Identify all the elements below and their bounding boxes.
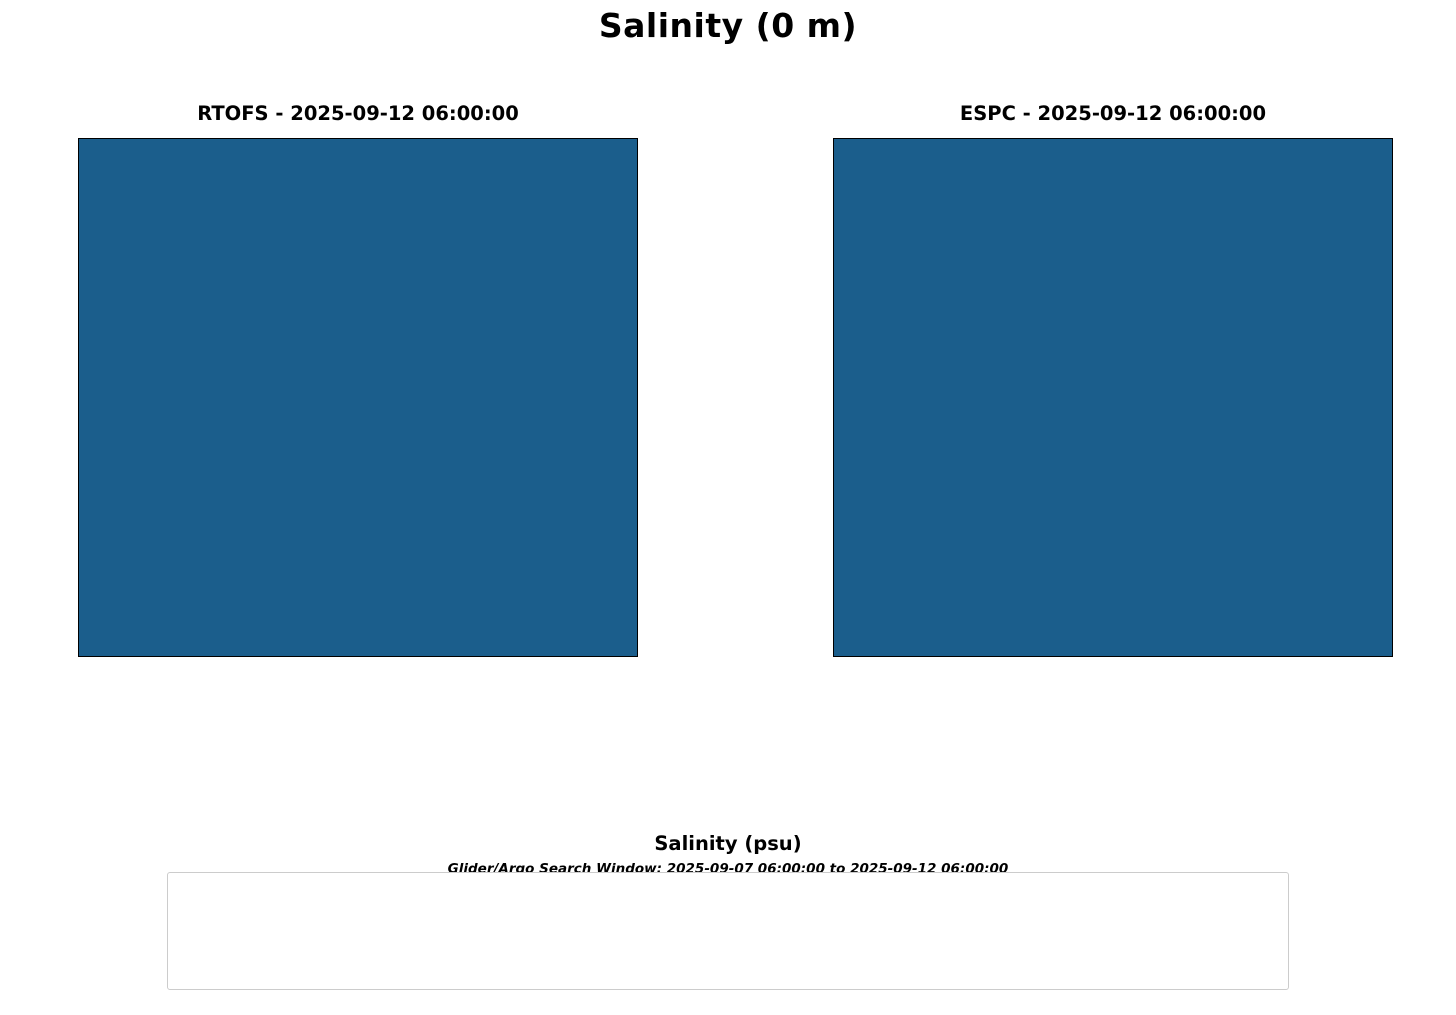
panel-title-rtofs: RTOFS - 2025-09-12 06:00:00 [78, 102, 638, 125]
panel-title-espc: ESPC - 2025-09-12 06:00:00 [833, 102, 1393, 125]
legend-box [167, 872, 1289, 990]
colorbar-label: Salinity (psu) [0, 832, 1456, 855]
colorbar [30, 766, 1426, 796]
figure-root: Salinity (0 m) RTOFS - 2025-09-12 06:00:… [0, 0, 1456, 1015]
map-panel-rtofs[interactable] [78, 138, 638, 657]
salinity-field-rtofs [79, 139, 638, 657]
colorbar-ticks [30, 796, 1426, 806]
legend-grid [174, 877, 1282, 985]
figure-title: Salinity (0 m) [0, 6, 1456, 45]
map-panel-espc[interactable] [833, 138, 1393, 657]
salinity-field-espc [834, 139, 1393, 657]
